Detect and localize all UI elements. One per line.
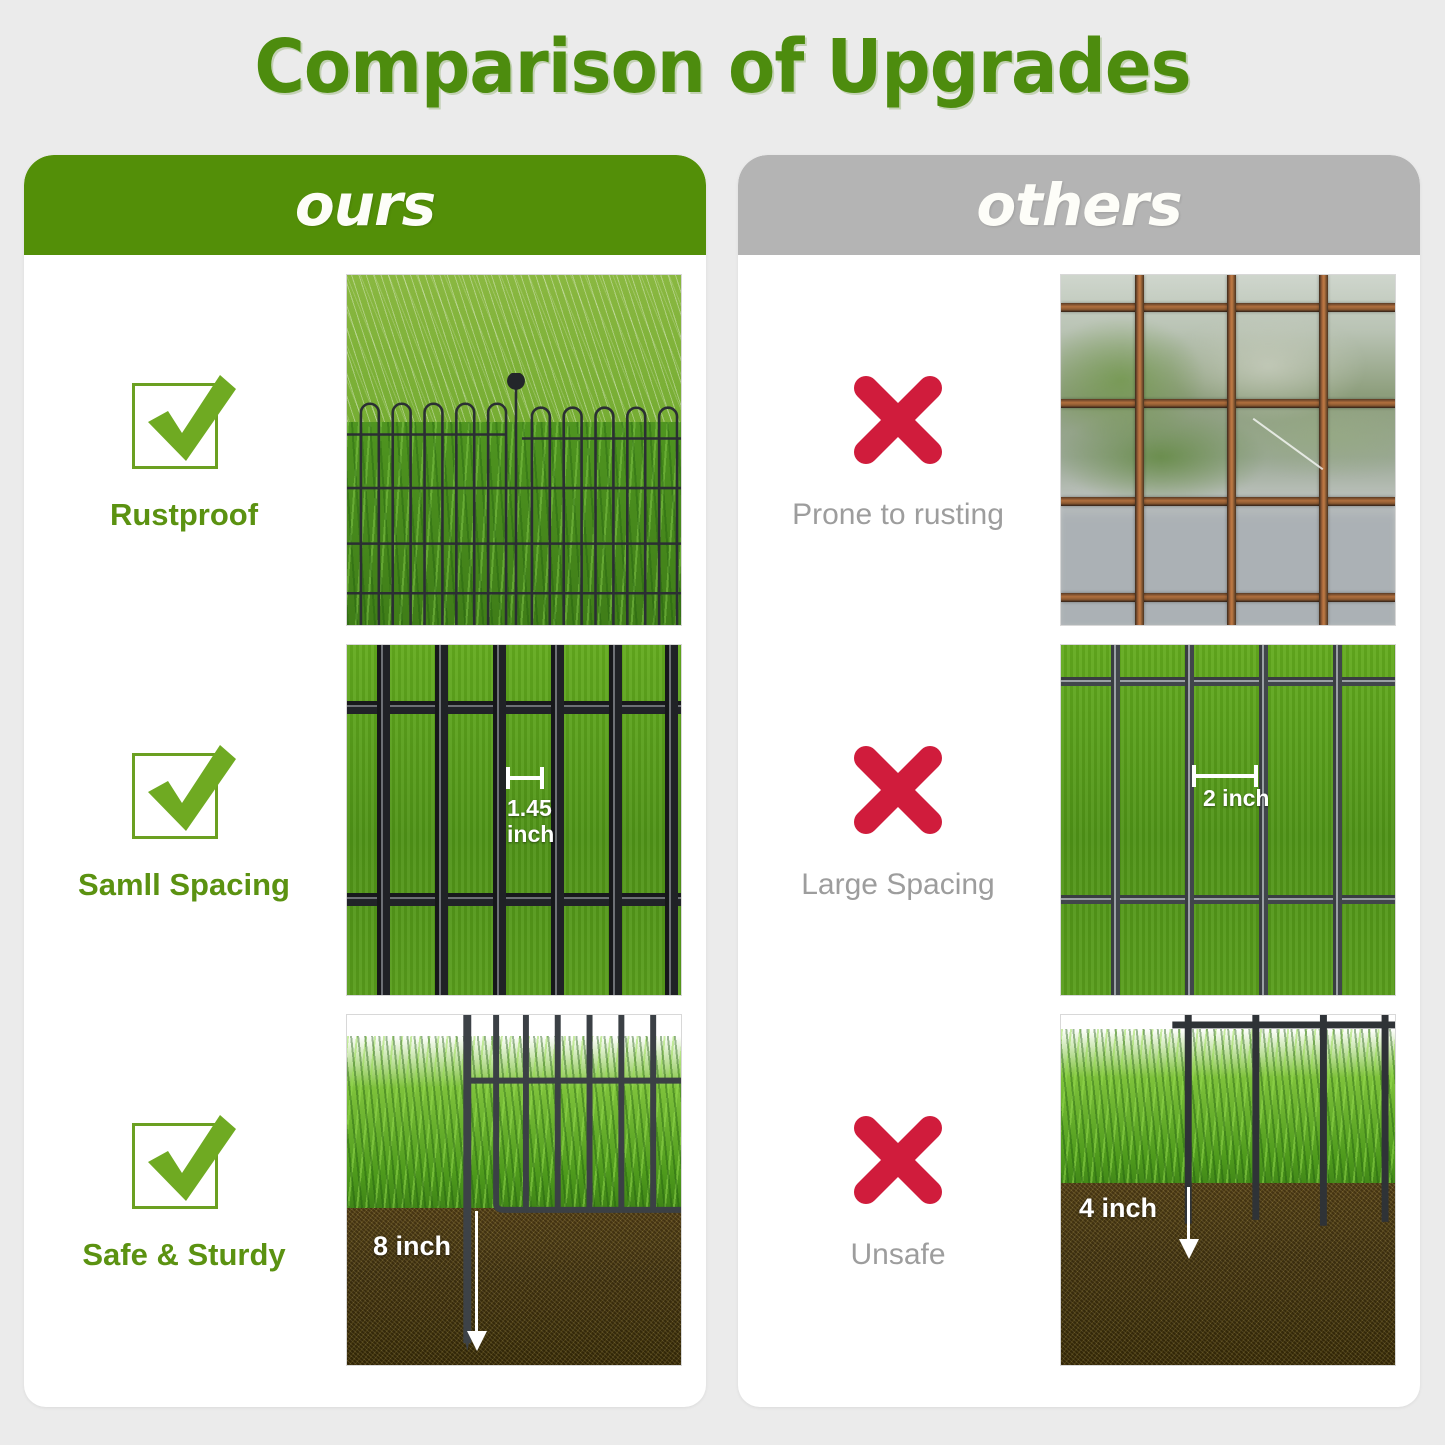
feature-large-spacing: Large Spacing xyxy=(738,633,1058,1007)
fence-rail xyxy=(347,893,681,906)
check-mark-icon xyxy=(128,1107,240,1211)
ours-card-body: Rustproof xyxy=(24,255,706,1407)
shallow-fence-depth-photo: 4 inch xyxy=(1060,1014,1396,1366)
x-mark-icon xyxy=(846,738,950,842)
ours-row-rustproof: Rustproof xyxy=(24,263,706,637)
feature-unsafe: Unsafe xyxy=(738,1003,1058,1377)
comparison-cards: ours Rustproof xyxy=(0,155,1445,1410)
shallow-fence-graphic xyxy=(1061,1015,1395,1365)
rusty-mesh-photo xyxy=(1060,274,1396,626)
wide-spacing-fence-photo: 2 inch xyxy=(1060,644,1396,996)
spacing-caliper xyxy=(1192,765,1258,787)
others-card-header: others xyxy=(738,155,1420,255)
spacing-caliper xyxy=(506,767,544,789)
ours-row-spacing: Samll Spacing 1.45 inch xyxy=(24,633,706,1007)
buried-fence-depth-photo: 8 inch xyxy=(346,1014,682,1366)
check-mark-icon xyxy=(128,737,240,841)
feature-label: Large Spacing xyxy=(801,868,994,902)
check-icon xyxy=(128,737,240,841)
fence-bar xyxy=(1185,645,1194,995)
spacing-measure-label: 2 inch xyxy=(1203,785,1269,811)
rusty-bar xyxy=(1227,275,1236,625)
feature-label: Rustproof xyxy=(110,497,258,533)
others-card: others Prone to rusting xyxy=(738,155,1420,1407)
x-mark-icon xyxy=(846,1108,950,1212)
page-title: Comparison of Upgrades xyxy=(51,24,1395,110)
fence-bar xyxy=(609,645,622,995)
fence-rail xyxy=(347,701,681,714)
cross-icon xyxy=(846,368,950,472)
depth-arrow-icon xyxy=(1179,1187,1199,1257)
rusty-bar xyxy=(1135,275,1144,625)
depth-measure-label: 4 inch xyxy=(1079,1193,1157,1224)
feature-small-spacing: Samll Spacing xyxy=(24,633,344,1007)
fence-bar xyxy=(1111,645,1120,995)
hoop-fence-graphic xyxy=(347,373,681,625)
rusty-bar xyxy=(1319,275,1328,625)
feature-label: Safe & Sturdy xyxy=(82,1237,285,1273)
ours-row-sturdy: Safe & Sturdy xyxy=(24,1003,706,1377)
check-icon xyxy=(128,1107,240,1211)
check-icon xyxy=(128,367,240,471)
depth-measure-label: 8 inch xyxy=(373,1231,451,1262)
fence-bar xyxy=(1259,645,1268,995)
others-header-label: others xyxy=(976,171,1181,239)
ours-header-label: ours xyxy=(295,171,435,239)
fence-bar xyxy=(1333,645,1342,995)
fence-in-rain-photo xyxy=(346,274,682,626)
others-row-spacing: Large Spacing 2 inch xyxy=(738,633,1420,1007)
check-mark-icon xyxy=(128,367,240,471)
others-row-unsafe: Unsafe xyxy=(738,1003,1420,1377)
others-row-rusting: Prone to rusting xyxy=(738,263,1420,637)
ours-card: ours Rustproof xyxy=(24,155,706,1407)
feature-rustproof: Rustproof xyxy=(24,263,344,637)
spacing-measure-label: 1.45 inch xyxy=(507,795,554,847)
feature-label: Prone to rusting xyxy=(792,498,1004,532)
fence-bar xyxy=(435,645,448,995)
cross-icon xyxy=(846,1108,950,1212)
fence-bar xyxy=(377,645,390,995)
others-card-body: Prone to rusting xyxy=(738,255,1420,1407)
feature-safe-sturdy: Safe & Sturdy xyxy=(24,1003,344,1377)
feature-label: Samll Spacing xyxy=(78,867,290,903)
feature-label: Unsafe xyxy=(850,1238,945,1272)
feature-prone-to-rusting: Prone to rusting xyxy=(738,263,1058,637)
depth-arrow-icon xyxy=(467,1211,487,1353)
x-mark-icon xyxy=(846,368,950,472)
fence-bar xyxy=(493,645,506,995)
fence-bar xyxy=(665,645,678,995)
buried-fence-graphic xyxy=(347,1015,681,1365)
cross-icon xyxy=(846,738,950,842)
narrow-spacing-fence-photo: 1.45 inch xyxy=(346,644,682,996)
ours-card-header: ours xyxy=(24,155,706,255)
